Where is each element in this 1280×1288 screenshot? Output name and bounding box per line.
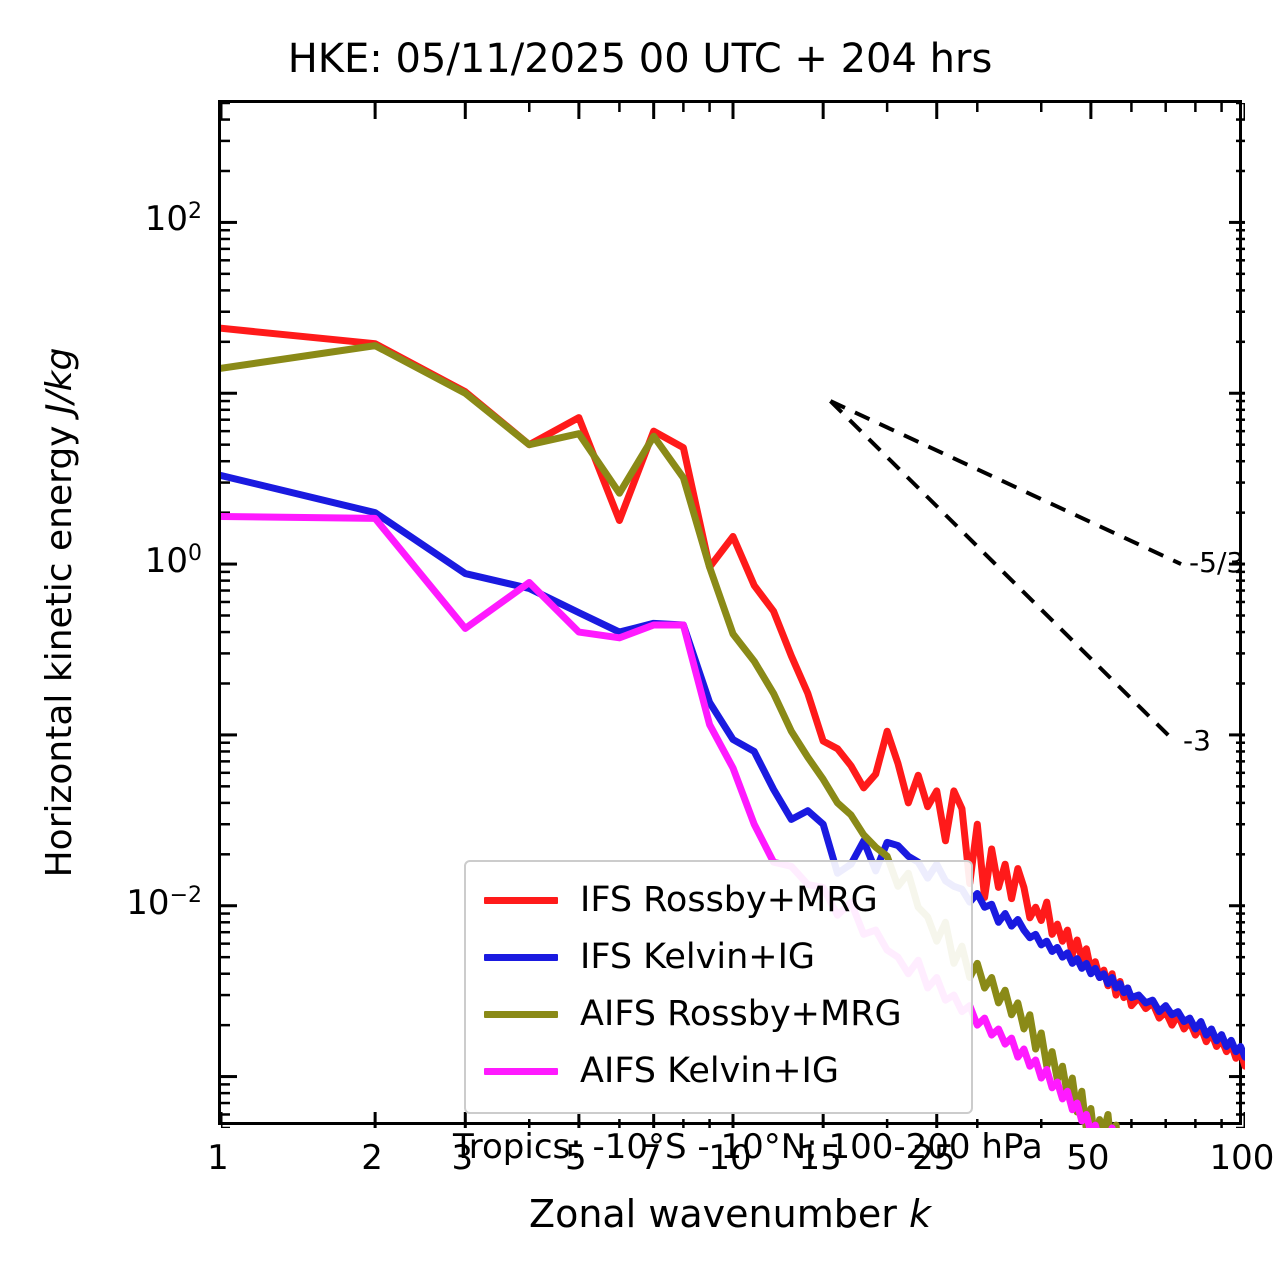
legend-color-swatch — [484, 897, 558, 904]
legend[interactable]: IFS Rossby+MRGIFS Kelvin+IGAIFS Rossby+M… — [464, 860, 973, 1114]
plot-area: IFS Rossby+MRGIFS Kelvin+IGAIFS Rossby+M… — [218, 100, 1242, 1125]
legend-label: AIFS Kelvin+IG — [580, 1054, 839, 1089]
x-tick-label: 2 — [361, 1138, 383, 1178]
x-tick-label: 25 — [912, 1138, 955, 1178]
chart-page: HKE: 05/11/2025 00 UTC + 204 hrs Horizon… — [0, 0, 1280, 1288]
x-tick-label: 100 — [1210, 1138, 1275, 1178]
reference-slope-lines — [830, 401, 1181, 742]
legend-item[interactable]: IFS Rossby+MRG — [466, 872, 971, 929]
y-tick-label: 10−2 — [126, 883, 202, 923]
reference-line-0 — [830, 401, 1181, 564]
slope-label-1: -3 — [1183, 724, 1211, 757]
legend-item[interactable]: IFS Kelvin+IG — [466, 929, 971, 986]
x-tick-label: 50 — [1066, 1138, 1109, 1178]
x-tick-label: 10 — [708, 1138, 751, 1178]
y-axis-label-text: Horizontal kinetic energy — [39, 426, 80, 878]
legend-color-swatch — [484, 1068, 558, 1075]
legend-label: AIFS Rossby+MRG — [580, 997, 902, 1032]
y-axis-label: Horizontal kinetic energy J/kg — [39, 100, 80, 1125]
legend-item[interactable]: AIFS Rossby+MRG — [466, 986, 971, 1043]
legend-color-swatch — [484, 1011, 558, 1018]
legend-item[interactable]: AIFS Kelvin+IG — [466, 1043, 971, 1100]
y-tick-label: 102 — [145, 199, 202, 239]
legend-color-swatch — [484, 954, 558, 961]
x-tick-label: 5 — [565, 1138, 587, 1178]
legend-label: IFS Rossby+MRG — [580, 883, 878, 918]
x-axis-label-symbol: k — [909, 1192, 931, 1236]
x-tick-label: 1 — [207, 1138, 229, 1178]
y-axis-label-units: J/kg — [39, 348, 80, 414]
x-tick-label: 15 — [799, 1138, 842, 1178]
x-tick-label: 7 — [640, 1138, 662, 1178]
chart-title: HKE: 05/11/2025 00 UTC + 204 hrs — [0, 36, 1280, 82]
y-tick-label: 100 — [145, 541, 202, 581]
legend-label: IFS Kelvin+IG — [580, 940, 815, 975]
reference-line-1 — [830, 401, 1175, 742]
x-axis-label: Zonal wavenumber k — [218, 1192, 1242, 1236]
slope-label-0: -5/3 — [1189, 546, 1244, 579]
x-tick-label: 3 — [451, 1138, 473, 1178]
x-axis-label-text: Zonal wavenumber — [529, 1192, 897, 1236]
